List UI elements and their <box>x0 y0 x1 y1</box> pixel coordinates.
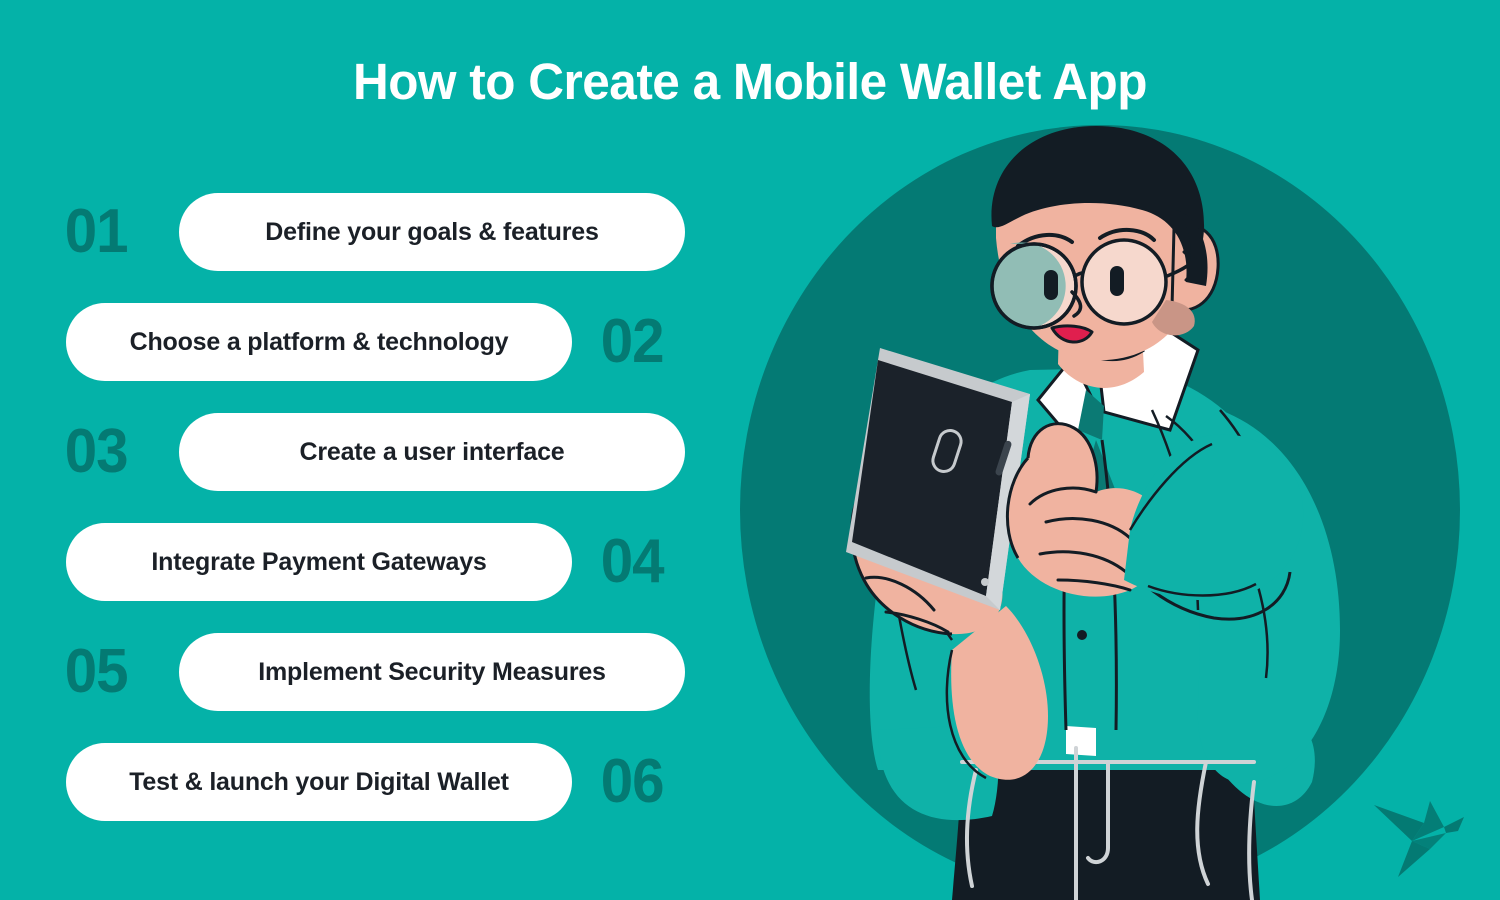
steps-list: 01 Define your goals & features Choose a… <box>0 185 700 865</box>
step-row-02[interactable]: Choose a platform & technology 02 <box>0 303 766 381</box>
step-number-01: 01 <box>65 201 150 263</box>
step-number-03: 03 <box>65 421 150 483</box>
origami-bird-logo <box>1372 793 1482 878</box>
step-number-02: 02 <box>601 311 686 373</box>
step-number-06: 06 <box>601 751 686 813</box>
infographic-canvas: How to Create a Mobile Wallet App 01 Def… <box>0 0 1500 900</box>
page-title: How to Create a Mobile Wallet App <box>23 56 1478 107</box>
step-row-06[interactable]: Test & launch your Digital Wallet 06 <box>0 743 766 821</box>
step-number-05: 05 <box>65 641 150 703</box>
step-label-02: Choose a platform & technology <box>130 328 509 357</box>
step-pill-01[interactable]: Define your goals & features <box>179 193 685 271</box>
step-pill-02[interactable]: Choose a platform & technology <box>66 303 572 381</box>
step-pill-03[interactable]: Create a user interface <box>179 413 685 491</box>
step-pill-05[interactable]: Implement Security Measures <box>179 633 685 711</box>
step-label-05: Implement Security Measures <box>258 658 606 687</box>
step-row-01[interactable]: 01 Define your goals & features <box>0 193 762 271</box>
illustration-man-with-smartphone <box>700 110 1500 900</box>
step-label-01: Define your goals & features <box>265 218 598 247</box>
step-row-05[interactable]: 05 Implement Security Measures <box>0 633 762 711</box>
step-label-03: Create a user interface <box>300 438 565 467</box>
step-row-04[interactable]: Integrate Payment Gateways 04 <box>0 523 766 601</box>
step-label-06: Test & launch your Digital Wallet <box>129 768 509 797</box>
step-pill-04[interactable]: Integrate Payment Gateways <box>66 523 572 601</box>
step-number-04: 04 <box>601 531 686 593</box>
step-pill-06[interactable]: Test & launch your Digital Wallet <box>66 743 572 821</box>
step-row-03[interactable]: 03 Create a user interface <box>0 413 762 491</box>
step-label-04: Integrate Payment Gateways <box>151 548 486 577</box>
